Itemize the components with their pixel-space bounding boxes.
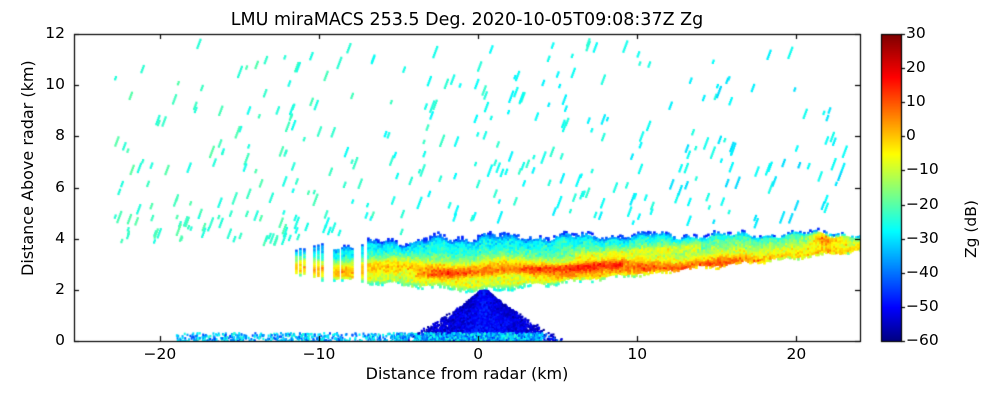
x-axis-label: Distance from radar (km) — [74, 364, 860, 383]
colorbar-tick-label: −40 — [906, 263, 966, 281]
radar-plot-canvas — [0, 0, 1000, 400]
x-tick-label: 20 — [756, 345, 836, 363]
colorbar-tick-label: 30 — [906, 24, 966, 42]
y-tick-label: 10 — [5, 75, 65, 93]
colorbar-tick-label: 0 — [906, 126, 966, 144]
y-tick-label: 4 — [5, 229, 65, 247]
radar-rhi-figure: LMU miraMACS 253.5 Deg. 2020-10-05T09:08… — [0, 0, 1000, 400]
colorbar-tick-label: 10 — [906, 92, 966, 110]
y-tick-label: 6 — [5, 178, 65, 196]
x-tick-label: 0 — [438, 345, 518, 363]
y-tick-label: 2 — [5, 280, 65, 298]
colorbar-tick-label: −50 — [906, 297, 966, 315]
colorbar-tick-label: −10 — [906, 160, 966, 178]
y-tick-label: 12 — [5, 24, 65, 42]
colorbar-tick-label: −60 — [906, 331, 966, 349]
colorbar-tick-label: 20 — [906, 58, 966, 76]
plot-title: LMU miraMACS 253.5 Deg. 2020-10-05T09:08… — [0, 10, 934, 30]
x-tick-label: −20 — [120, 345, 200, 363]
colorbar-tick-label: −20 — [906, 195, 966, 213]
x-tick-label: −10 — [279, 345, 359, 363]
colorbar-tick-label: −30 — [906, 229, 966, 247]
y-tick-label: 0 — [5, 331, 65, 349]
x-tick-label: 10 — [597, 345, 677, 363]
y-tick-label: 8 — [5, 126, 65, 144]
